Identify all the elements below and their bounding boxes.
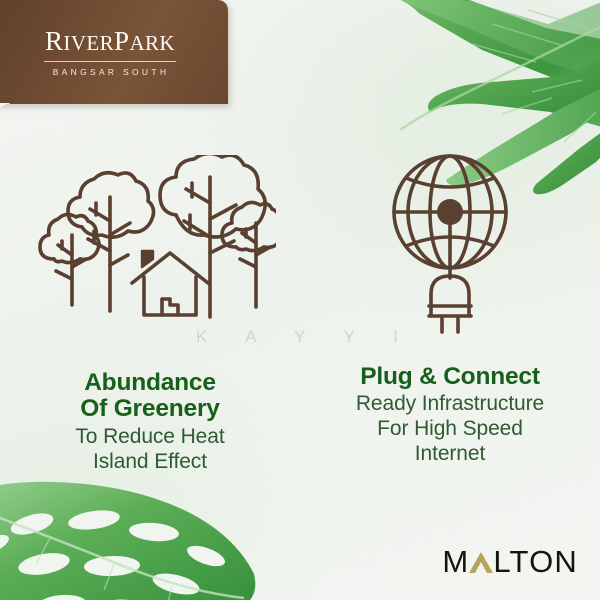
feature-connectivity-title-line1: Plug & Connect: [360, 364, 540, 390]
feature-connectivity: Plug & Connect Ready Infrastructure For …: [300, 150, 600, 474]
riverpark-wordmark: RIVERPARK: [45, 28, 175, 55]
malton-prefix: M: [442, 544, 469, 579]
wordmark-r: R: [45, 26, 63, 56]
riverpark-logo-badge: RIVERPARK BANGSAR SOUTH: [0, 0, 228, 104]
feature-greenery-title-line2: Of Greenery: [80, 396, 219, 422]
feature-connectivity-sub-line3: Internet: [356, 442, 544, 467]
feature-greenery-art: [24, 150, 276, 340]
malton-logo: MLTON: [442, 544, 578, 578]
feature-greenery-title-line1: Abundance: [80, 370, 219, 396]
feature-connectivity-title: Plug & Connect: [360, 364, 540, 390]
feature-greenery-sub-line2: Island Effect: [75, 450, 224, 475]
globe-with-plug-icon: [375, 150, 525, 340]
feature-greenery-title: Abundance Of Greenery: [80, 370, 219, 423]
globe-center-dot: [437, 199, 463, 225]
logo-divider: [44, 61, 176, 62]
feature-row: Abundance Of Greenery To Reduce Heat Isl…: [0, 150, 600, 474]
feature-connectivity-art: [375, 150, 525, 340]
malton-wordmark: MLTON: [442, 546, 578, 577]
trees-and-house-icon: [24, 155, 276, 340]
wordmark-iver: IVER: [63, 31, 114, 55]
chimney-icon: [142, 251, 153, 267]
feature-connectivity-subtitle: Ready Infrastructure For High Speed Inte…: [356, 392, 544, 466]
promotional-poster: RIVERPARK BANGSAR SOUTH K A Y Y I: [0, 0, 600, 600]
riverpark-tagline: BANGSAR SOUTH: [53, 67, 170, 77]
malton-triangle-a-icon: [468, 550, 494, 574]
malton-suffix: LTON: [493, 544, 578, 579]
wordmark-ark: ARK: [129, 31, 175, 55]
wordmark-p: P: [114, 26, 129, 56]
feature-greenery: Abundance Of Greenery To Reduce Heat Isl…: [0, 150, 300, 474]
feature-connectivity-sub-line1: Ready Infrastructure: [356, 392, 544, 417]
feature-greenery-subtitle: To Reduce Heat Island Effect: [75, 425, 224, 475]
feature-greenery-sub-line1: To Reduce Heat: [75, 425, 224, 450]
feature-connectivity-sub-line2: For High Speed: [356, 417, 544, 442]
